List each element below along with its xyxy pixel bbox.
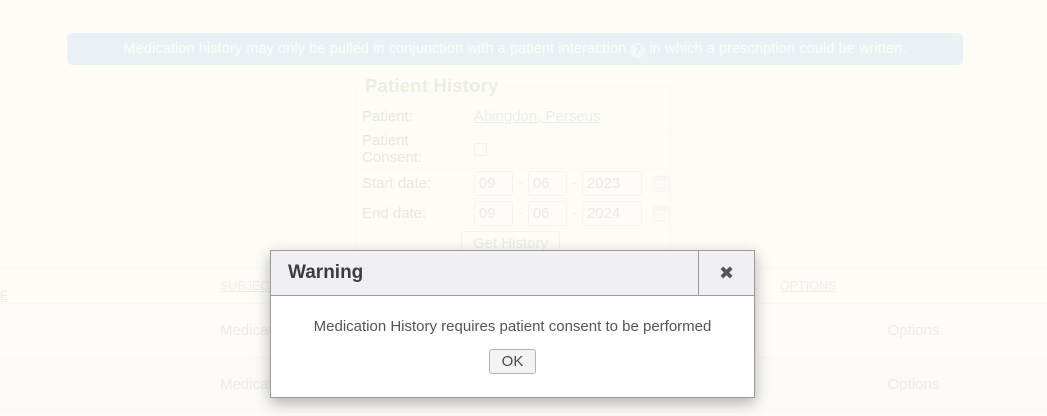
- modal-ok-button[interactable]: OK: [489, 349, 537, 374]
- end-date-sep-2: -: [571, 204, 578, 220]
- start-date-sep-1: -: [517, 174, 524, 190]
- patient-history-legend: Patient History: [361, 75, 505, 97]
- question-circle-icon[interactable]: ?: [630, 43, 645, 58]
- start-date-year-input[interactable]: [582, 171, 642, 196]
- form-row-start-date: Start date: - -: [356, 168, 670, 198]
- end-date-sep-1: -: [517, 204, 524, 220]
- form-row-patient: Patient: Abingdon, Perseus: [356, 104, 670, 129]
- column-header-options[interactable]: OPTIONS: [780, 269, 1047, 304]
- patient-consent-cell: [468, 129, 670, 168]
- row-options-link[interactable]: Options: [780, 304, 1047, 358]
- warning-modal: Warning ✖ Medication History requires pa…: [270, 250, 755, 398]
- patient-consent-checkbox[interactable]: [474, 143, 487, 156]
- patient-consent-label: Patient Consent:: [356, 129, 468, 168]
- modal-message: Medication History requires patient cons…: [289, 318, 736, 335]
- column-header-type[interactable]: [0, 269, 110, 304]
- patient-name-link[interactable]: Abingdon, Perseus: [474, 108, 601, 125]
- end-date-cell: - -: [468, 198, 670, 228]
- calendar-icon[interactable]: [652, 174, 670, 192]
- calendar-icon[interactable]: [652, 204, 670, 222]
- start-date-day-input[interactable]: [528, 171, 567, 196]
- start-date-label: Start date:: [356, 168, 468, 198]
- row-type-cell: [0, 358, 110, 412]
- close-icon[interactable]: ✖: [698, 251, 754, 295]
- end-date-day-input[interactable]: [528, 201, 567, 226]
- end-date-label: End date:: [356, 198, 468, 228]
- start-date-sep-2: -: [571, 174, 578, 190]
- start-date-month-input[interactable]: [474, 171, 513, 196]
- end-date-year-input[interactable]: [582, 201, 642, 226]
- form-row-end-date: End date: - -: [356, 198, 670, 228]
- patient-history-panel: Patient History Patient: Abingdon, Perse…: [355, 86, 671, 254]
- patient-value-cell: Abingdon, Perseus: [468, 104, 670, 129]
- start-date-cell: - -: [468, 168, 670, 198]
- modal-body: Medication History requires patient cons…: [271, 296, 754, 374]
- row-type-cell: [0, 304, 110, 358]
- notice-text-before: Medication history may only be pulled in…: [124, 41, 627, 57]
- modal-header: Warning ✖: [271, 251, 754, 296]
- patient-label: Patient:: [356, 104, 468, 129]
- column-header-partial-left[interactable]: E: [0, 289, 8, 303]
- row-options-link[interactable]: Options: [780, 358, 1047, 412]
- end-date-month-input[interactable]: [474, 201, 513, 226]
- patient-history-form: Patient: Abingdon, Perseus Patient Conse…: [356, 104, 670, 258]
- modal-title: Warning: [271, 251, 698, 295]
- medication-history-notice-banner: Medication history may only be pulled in…: [67, 33, 963, 65]
- form-row-consent: Patient Consent:: [356, 129, 670, 168]
- notice-text-after: in which a prescription could be written…: [649, 41, 906, 57]
